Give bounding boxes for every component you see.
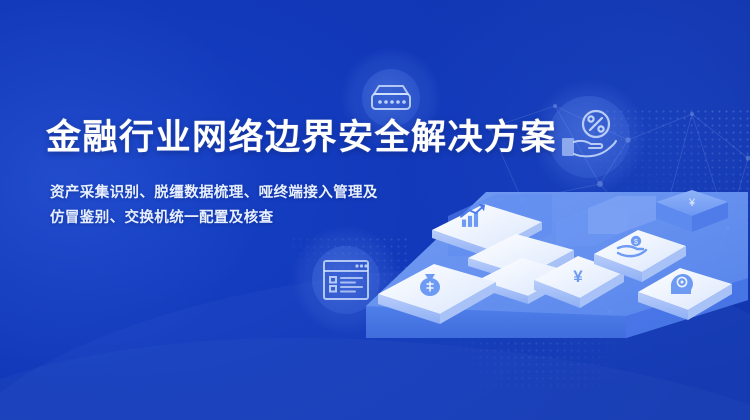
headline-block: 金融行业网络边界安全解决方案 资产采集识别、脱缰数据梳理、哑终端接入管理及 仿冒… bbox=[46, 118, 557, 232]
yen-tile-symbol: ¥ bbox=[573, 267, 583, 286]
page-subtitle: 资产采集识别、脱缰数据梳理、哑终端接入管理及 仿冒鉴别、交换机统一配置及核查 bbox=[50, 181, 557, 233]
subtitle-line-2: 仿冒鉴别、交换机统一配置及核查 bbox=[50, 206, 557, 232]
yen-block-symbol: ¥ bbox=[688, 197, 696, 209]
subtitle-line-1: 资产采集识别、脱缰数据梳理、哑终端接入管理及 bbox=[50, 181, 557, 207]
router-icon bbox=[367, 81, 415, 115]
hand-percent-icon bbox=[558, 109, 620, 165]
banner-root: 金融行业网络边界安全解决方案 资产采集识别、脱缰数据梳理、哑终端接入管理及 仿冒… bbox=[0, 0, 750, 420]
svg-text:$: $ bbox=[634, 239, 638, 246]
page-title: 金融行业网络边界安全解决方案 bbox=[46, 118, 557, 159]
